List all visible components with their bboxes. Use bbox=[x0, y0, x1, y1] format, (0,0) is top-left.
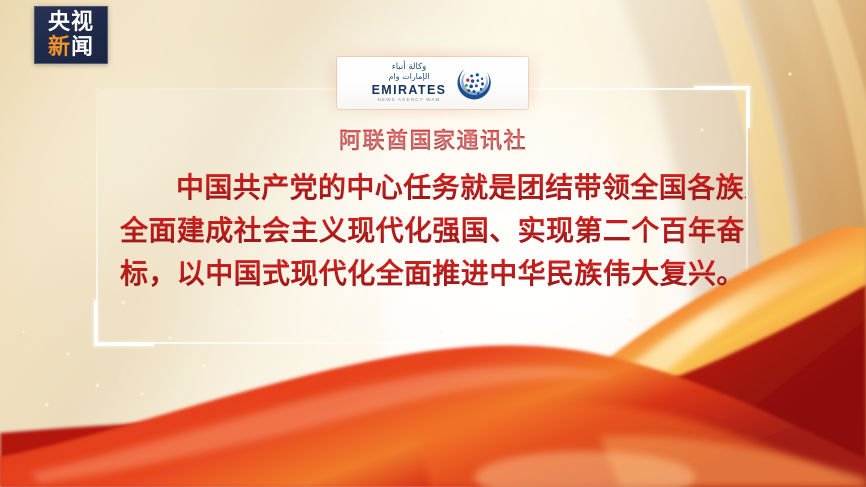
source-logo-arabic-line1: وكالة أنباء bbox=[392, 63, 426, 72]
source-logo-card: وكالة أنباء الإمارات وام EMIRATES NEWS A… bbox=[337, 57, 528, 109]
cctv-news-logo: 央视 新闻 bbox=[34, 6, 108, 64]
page-title: 阿联酋国家通讯社 bbox=[0, 123, 866, 155]
quote-line-1: 中国共产党的中心任务就是团结带领全国各族人民 bbox=[120, 166, 746, 209]
quote-text: 中国共产党的中心任务就是团结带领全国各族人民 全面建成社会主义现代化强国、实现第… bbox=[120, 166, 746, 295]
quote-line-3: 标，以中国式现代化全面推进中华民族伟大复兴。 bbox=[120, 252, 746, 295]
cctv-logo-char-xin: 新 bbox=[48, 37, 71, 59]
cctv-logo-line2: 新闻 bbox=[48, 37, 94, 59]
source-logo-english-name: EMIRATES bbox=[372, 84, 447, 97]
quote-line-2: 全面建成社会主义现代化强国、实现第二个百年奋斗目 bbox=[120, 209, 746, 252]
globe-dots-icon bbox=[455, 64, 493, 102]
cctv-logo-char-wen: 闻 bbox=[71, 37, 94, 59]
source-logo-subtitle: NEWS AGENCY WAM bbox=[378, 98, 441, 103]
source-logo-emirates-news-agency: وكالة أنباء الإمارات وام EMIRATES NEWS A… bbox=[337, 57, 528, 109]
source-logo-wordmark: وكالة أنباء الإمارات وام EMIRATES NEWS A… bbox=[372, 63, 447, 103]
news-graphic-card: 央视 新闻 وكالة أنباء الإمارات وام EMIRATES … bbox=[0, 0, 866, 487]
cctv-logo-line1: 央视 bbox=[48, 12, 94, 34]
source-logo-arabic-line2: الإمارات وام bbox=[388, 73, 429, 81]
